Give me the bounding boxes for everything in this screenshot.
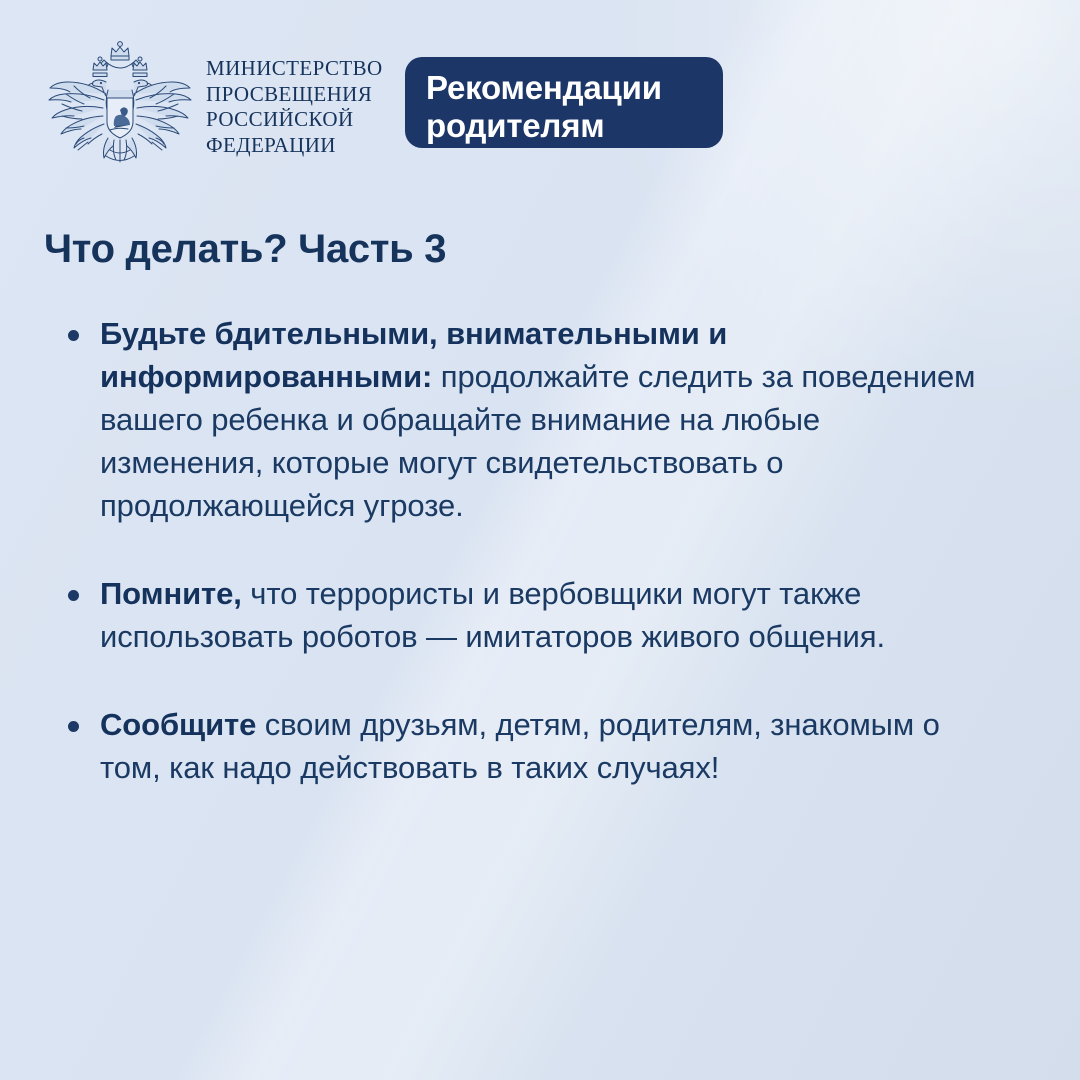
russian-double-headed-eagle-emblem-icon (44, 38, 196, 166)
bullet-dot-icon (68, 330, 79, 341)
header: Министерство Просвещения Российской Феде… (44, 36, 383, 166)
bullet-dot-icon (68, 721, 79, 732)
ministry-line-2: Просвещения (206, 82, 383, 108)
badge-line-1: Рекомендации (426, 69, 723, 107)
bullet-dot-icon (68, 590, 79, 601)
list-item: Сообщите своим друзьям, детям, родителям… (44, 703, 984, 789)
page-title: Что делать? Часть 3 (44, 227, 446, 272)
recommendations-badge: Рекомендации родителям (405, 57, 723, 148)
slide-root: Министерство Просвещения Российской Феде… (0, 0, 1080, 1080)
list-item: Помните, что террористы и вербовщики мог… (44, 572, 984, 658)
ministry-line-1: Министерство (206, 56, 383, 82)
bullet-lead: Сообщите (100, 707, 256, 742)
bullet-lead: Помните, (100, 576, 242, 611)
badge-line-2: родителям (426, 107, 723, 145)
list-item: Будьте бдительными, внимательными и инфо… (44, 312, 984, 527)
bullet-list: Будьте бдительными, внимательными и инфо… (44, 312, 984, 789)
ministry-line-3: Российской (206, 107, 383, 133)
ministry-line-4: Федерации (206, 133, 383, 159)
ministry-name: Министерство Просвещения Российской Феде… (206, 56, 383, 158)
